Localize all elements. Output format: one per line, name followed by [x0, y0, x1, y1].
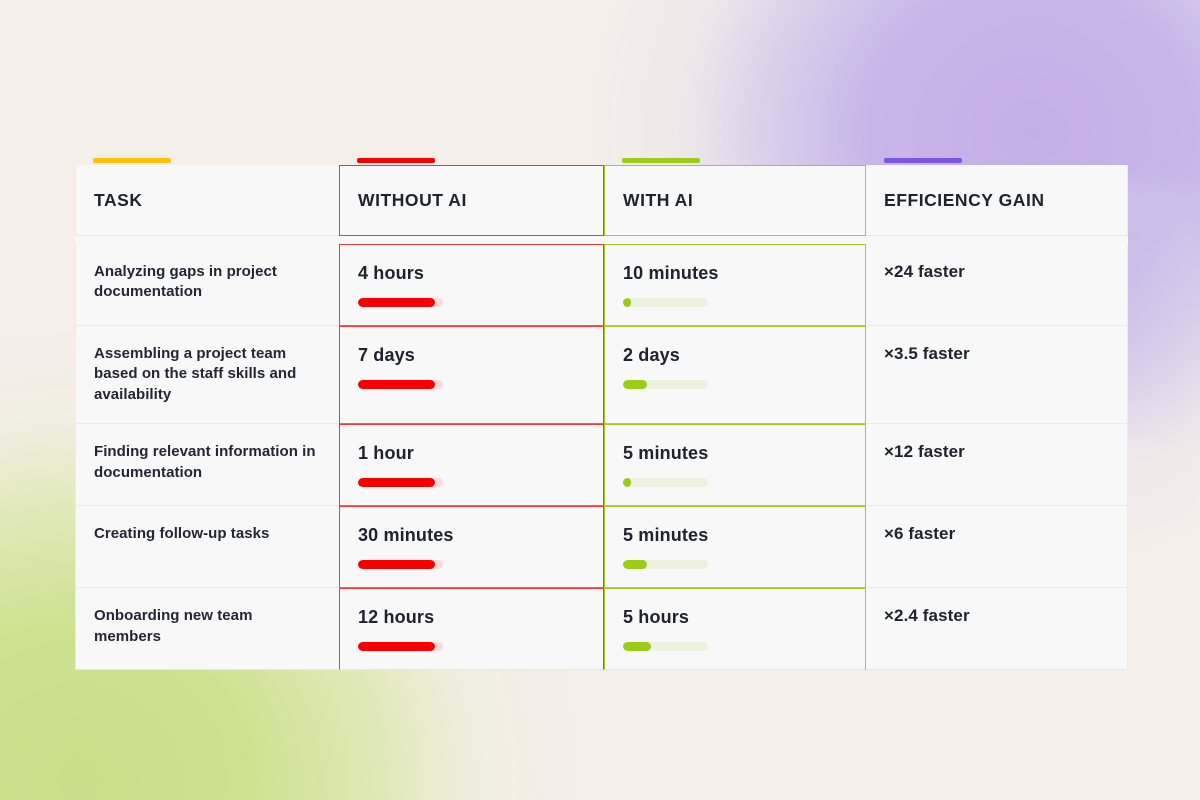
without-ai-bar-fill: [358, 478, 435, 487]
spacer-cell: [604, 236, 866, 244]
cell-efficiency-gain: ×12 faster: [866, 424, 1128, 506]
with-ai-bar-fill: [623, 380, 647, 389]
without-ai-bar-fill: [358, 380, 435, 389]
with-ai-value: 10 minutes: [623, 263, 847, 284]
cell-task: Onboarding new team members: [75, 588, 339, 670]
cell-with-ai: 5 minutes: [604, 506, 866, 588]
column-accent-bars: [75, 158, 1128, 165]
column-header-with-ai: WITH AI: [604, 165, 866, 236]
table-row: Assembling a project team based on the s…: [75, 326, 1128, 424]
without-ai-value: 1 hour: [358, 443, 585, 464]
with-ai-value: 5 hours: [623, 607, 847, 628]
without-ai-bar-track: [358, 298, 443, 307]
spacer-cell: [75, 236, 339, 244]
with-ai-value: 2 days: [623, 345, 847, 366]
cell-efficiency-gain: ×2.4 faster: [866, 588, 1128, 670]
cell-with-ai: 5 minutes: [604, 424, 866, 506]
without-ai-value: 12 hours: [358, 607, 585, 628]
table-header-row: TASK WITHOUT AI WITH AI EFFICIENCY GAIN: [75, 165, 1128, 236]
cell-without-ai: 30 minutes: [339, 506, 604, 588]
cell-efficiency-gain: ×3.5 faster: [866, 326, 1128, 424]
efficiency-gain-value: ×24 faster: [884, 262, 1109, 282]
table-row: Onboarding new team members12 hours5 hou…: [75, 588, 1128, 670]
accent-bar-with-ai: [622, 158, 700, 163]
cell-efficiency-gain: ×24 faster: [866, 244, 1128, 326]
cell-with-ai: 2 days: [604, 326, 866, 424]
cell-task: Creating follow-up tasks: [75, 506, 339, 588]
table-row: Analyzing gaps in project documentation4…: [75, 244, 1128, 326]
spacer-cell: [339, 236, 604, 244]
with-ai-bar-fill: [623, 560, 647, 569]
cell-with-ai: 5 hours: [604, 588, 866, 670]
spacer-cell: [866, 236, 1128, 244]
accent-bar-task: [93, 158, 171, 163]
cell-without-ai: 12 hours: [339, 588, 604, 670]
header-body-spacer: [75, 236, 1128, 244]
table-row: Finding relevant information in document…: [75, 424, 1128, 506]
without-ai-bar-track: [358, 380, 443, 389]
cell-with-ai: 10 minutes: [604, 244, 866, 326]
accent-bar-efficiency-gain: [884, 158, 962, 163]
task-label: Finding relevant information in document…: [94, 443, 316, 480]
cell-efficiency-gain: ×6 faster: [866, 506, 1128, 588]
with-ai-bar-fill: [623, 298, 631, 307]
cell-task: Analyzing gaps in project documentation: [75, 244, 339, 326]
with-ai-bar-track: [623, 298, 708, 307]
table-body: Analyzing gaps in project documentation4…: [75, 244, 1128, 670]
without-ai-bar-fill: [358, 298, 435, 307]
ai-efficiency-comparison-table: TASK WITHOUT AI WITH AI EFFICIENCY GAIN …: [75, 165, 1128, 670]
efficiency-gain-value: ×12 faster: [884, 442, 1109, 462]
task-label: Onboarding new team members: [94, 607, 252, 644]
column-header-efficiency-gain: EFFICIENCY GAIN: [866, 165, 1128, 236]
without-ai-bar-track: [358, 642, 443, 651]
cell-without-ai: 1 hour: [339, 424, 604, 506]
task-label: Assembling a project team based on the s…: [94, 345, 296, 403]
without-ai-value: 4 hours: [358, 263, 585, 284]
with-ai-value: 5 minutes: [623, 525, 847, 546]
task-label: Creating follow-up tasks: [94, 525, 269, 542]
without-ai-bar-fill: [358, 560, 435, 569]
column-header-task: TASK: [75, 165, 339, 236]
accent-bar-without-ai: [357, 158, 435, 163]
efficiency-gain-value: ×6 faster: [884, 524, 1109, 544]
without-ai-bar-track: [358, 560, 443, 569]
cell-without-ai: 4 hours: [339, 244, 604, 326]
cell-task: Finding relevant information in document…: [75, 424, 339, 506]
column-header-without-ai: WITHOUT AI: [339, 165, 604, 236]
with-ai-bar-track: [623, 560, 708, 569]
without-ai-value: 7 days: [358, 345, 585, 366]
table-row: Creating follow-up tasks30 minutes5 minu…: [75, 506, 1128, 588]
task-label: Analyzing gaps in project documentation: [94, 263, 277, 300]
without-ai-bar-track: [358, 478, 443, 487]
with-ai-bar-track: [623, 380, 708, 389]
without-ai-bar-fill: [358, 642, 435, 651]
efficiency-gain-value: ×3.5 faster: [884, 344, 1109, 364]
cell-task: Assembling a project team based on the s…: [75, 326, 339, 424]
table-header: TASK WITHOUT AI WITH AI EFFICIENCY GAIN: [75, 165, 1128, 244]
with-ai-bar-fill: [623, 478, 631, 487]
efficiency-gain-value: ×2.4 faster: [884, 606, 1109, 626]
with-ai-value: 5 minutes: [623, 443, 847, 464]
cell-without-ai: 7 days: [339, 326, 604, 424]
with-ai-bar-track: [623, 478, 708, 487]
without-ai-value: 30 minutes: [358, 525, 585, 546]
with-ai-bar-fill: [623, 642, 651, 651]
with-ai-bar-track: [623, 642, 708, 651]
comparison-table-container: TASK WITHOUT AI WITH AI EFFICIENCY GAIN …: [75, 165, 1128, 670]
